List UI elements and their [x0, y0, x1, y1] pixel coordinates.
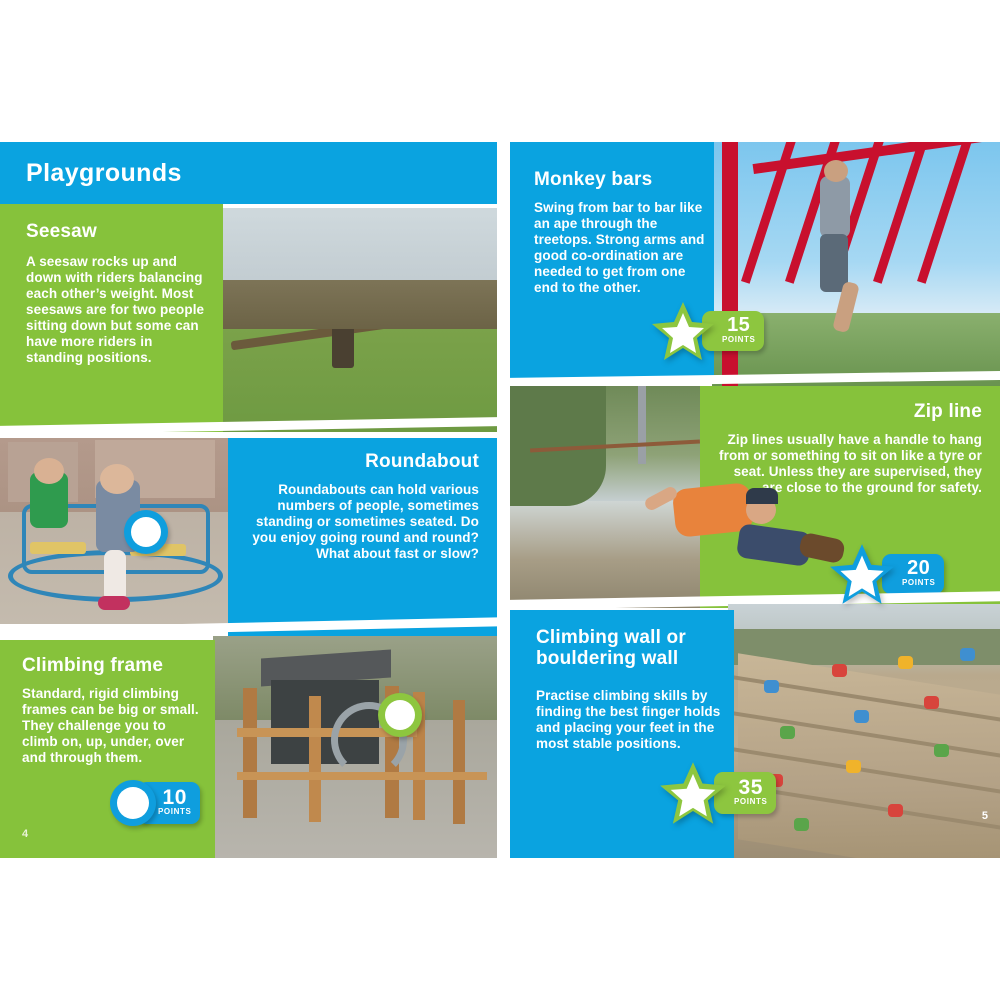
seesaw-photo [222, 208, 497, 432]
zip-line-title: Zip line [914, 402, 982, 423]
points-unit: POINTS [734, 797, 767, 806]
roundabout-panel: Roundabout Roundabouts can hold various … [228, 438, 497, 636]
star-badge-icon [828, 542, 896, 606]
page-number-left: 4 [22, 828, 28, 840]
climbing-frame-body: Standard, rigid climbing frames can be b… [22, 686, 202, 766]
roundabout-title: Roundabout [365, 452, 479, 473]
monkey-bars-title: Monkey bars [534, 170, 652, 191]
left-page: Playgrounds Seesaw A seesaw rocks up and… [0, 142, 497, 858]
points-value: 35 [739, 778, 763, 798]
seesaw-panel: Seesaw A seesaw rocks up and down with r… [0, 204, 223, 432]
zip-line-rider [634, 478, 854, 598]
points-unit: POINTS [902, 578, 935, 587]
climbing-frame-photo [213, 636, 497, 858]
roundabout-body: Roundabouts can hold various numbers of … [237, 482, 479, 562]
roundabout-photo [0, 438, 228, 624]
playgrounds-header-band: Playgrounds [0, 142, 497, 204]
climbing-frame-points-badge: 10 POINTS [110, 780, 200, 826]
climbing-wall-points-badge: 35 POINTS [658, 760, 776, 826]
points-unit: POINTS [722, 335, 755, 344]
star-badge-icon [650, 300, 716, 362]
seesaw-body: A seesaw rocks up and down with riders b… [26, 254, 212, 366]
page-title: Playgrounds [26, 159, 182, 188]
seesaw-title: Seesaw [26, 222, 97, 243]
star-badge-icon [658, 760, 728, 826]
page-number-right: 5 [982, 810, 988, 822]
points-unit: POINTS [158, 807, 191, 816]
climbing-frame-title: Climbing frame [22, 656, 163, 677]
circle-badge-icon [110, 780, 156, 826]
monkey-bars-body: Swing from bar to bar like an ape throug… [534, 200, 712, 296]
circle-badge-icon [124, 510, 168, 554]
spread-container: Playgrounds Seesaw A seesaw rocks up and… [0, 0, 1000, 1000]
points-value: 20 [907, 559, 930, 578]
points-value: 15 [727, 316, 750, 335]
climbing-wall-body: Practise climbing skills by finding the … [536, 688, 722, 752]
climbing-wall-title: Climbing wall or bouldering wall [536, 628, 718, 669]
monkey-bars-points-badge: 15 POINTS [650, 300, 764, 362]
points-value: 10 [163, 788, 187, 808]
circle-badge-icon [378, 693, 422, 737]
right-page: Monkey bars Swing from bar to bar like a… [510, 142, 1000, 858]
